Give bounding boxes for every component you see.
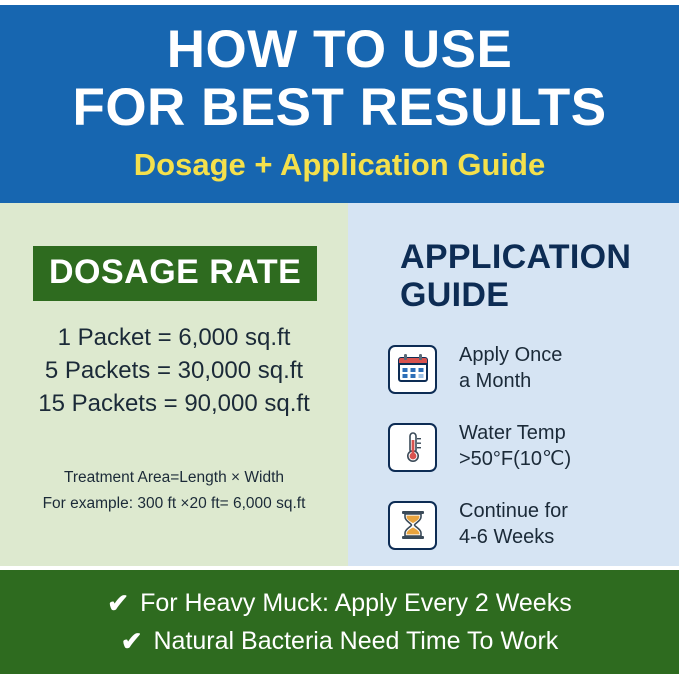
application-step: Water Temp >50°F(10℃) bbox=[388, 411, 679, 483]
dosage-note: Treatment Area=Length × Width For exampl… bbox=[0, 465, 348, 516]
footer-tip-text: For Heavy Muck: Apply Every 2 Weeks bbox=[140, 587, 572, 620]
dosage-panel: DOSAGE RATE 1 Packet = 6,000 sq.ft 5 Pac… bbox=[0, 203, 348, 566]
application-step-text: Apply Once a Month bbox=[459, 343, 562, 394]
check-icon: ✔ bbox=[107, 590, 129, 616]
dosage-rate-item: 1 Packet = 6,000 sq.ft bbox=[0, 321, 348, 354]
application-step: Apply Once a Month bbox=[388, 333, 679, 405]
application-panel: APPLICATION GUIDE bbox=[348, 203, 679, 566]
hourglass-icon bbox=[388, 501, 437, 550]
hourglass-icon-svg bbox=[396, 508, 430, 542]
dosage-note-line: For example: 300 ft ×20 ft= 6,000 sq.ft bbox=[0, 491, 348, 517]
application-step-line2: >50°F(10℃) bbox=[459, 447, 571, 473]
footer-banner: ✔ For Heavy Muck: Apply Every 2 Weeks ✔ … bbox=[0, 570, 679, 674]
footer-tip: ✔ For Heavy Muck: Apply Every 2 Weeks bbox=[107, 587, 571, 620]
thermometer-icon-svg bbox=[396, 430, 430, 464]
dosage-rate-item: 15 Packets = 90,000 sq.ft bbox=[0, 387, 348, 420]
header-banner: HOW TO USE FOR BEST RESULTS Dosage + App… bbox=[0, 5, 679, 203]
dosage-note-line: Treatment Area=Length × Width bbox=[0, 465, 348, 491]
application-step-line1: Water Temp bbox=[459, 421, 571, 447]
page-title-line2: FOR BEST RESULTS bbox=[72, 81, 606, 135]
application-step-text: Continue for 4-6 Weeks bbox=[459, 499, 568, 550]
application-guide-title: APPLICATION GUIDE bbox=[400, 238, 631, 314]
application-guide-title-line1: APPLICATION bbox=[400, 238, 631, 276]
poster: HOW TO USE FOR BEST RESULTS Dosage + App… bbox=[0, 0, 679, 679]
page-title-line1: HOW TO USE bbox=[167, 23, 513, 77]
application-step-line2: a Month bbox=[459, 369, 562, 395]
application-step-line2: 4-6 Weeks bbox=[459, 525, 568, 551]
dosage-rate-list: 1 Packet = 6,000 sq.ft 5 Packets = 30,00… bbox=[0, 321, 348, 420]
check-icon: ✔ bbox=[121, 628, 143, 654]
page-subtitle: Dosage + Application Guide bbox=[134, 147, 545, 183]
thermometer-icon bbox=[388, 423, 437, 472]
footer-tip: ✔ Natural Bacteria Need Time To Work bbox=[121, 625, 559, 658]
application-step-line1: Continue for bbox=[459, 499, 568, 525]
application-step: Continue for 4-6 Weeks bbox=[388, 489, 679, 561]
calendar-icon bbox=[388, 345, 437, 394]
middle-section: DOSAGE RATE 1 Packet = 6,000 sq.ft 5 Pac… bbox=[0, 203, 679, 566]
calendar-icon-svg bbox=[396, 352, 430, 386]
application-steps: Apply Once a Month bbox=[388, 333, 679, 567]
application-step-line1: Apply Once bbox=[459, 343, 562, 369]
dosage-rate-badge: DOSAGE RATE bbox=[33, 246, 317, 301]
dosage-rate-item: 5 Packets = 30,000 sq.ft bbox=[0, 354, 348, 387]
footer-tip-text: Natural Bacteria Need Time To Work bbox=[153, 625, 558, 658]
application-step-text: Water Temp >50°F(10℃) bbox=[459, 421, 571, 472]
application-guide-title-line2: GUIDE bbox=[400, 276, 631, 314]
